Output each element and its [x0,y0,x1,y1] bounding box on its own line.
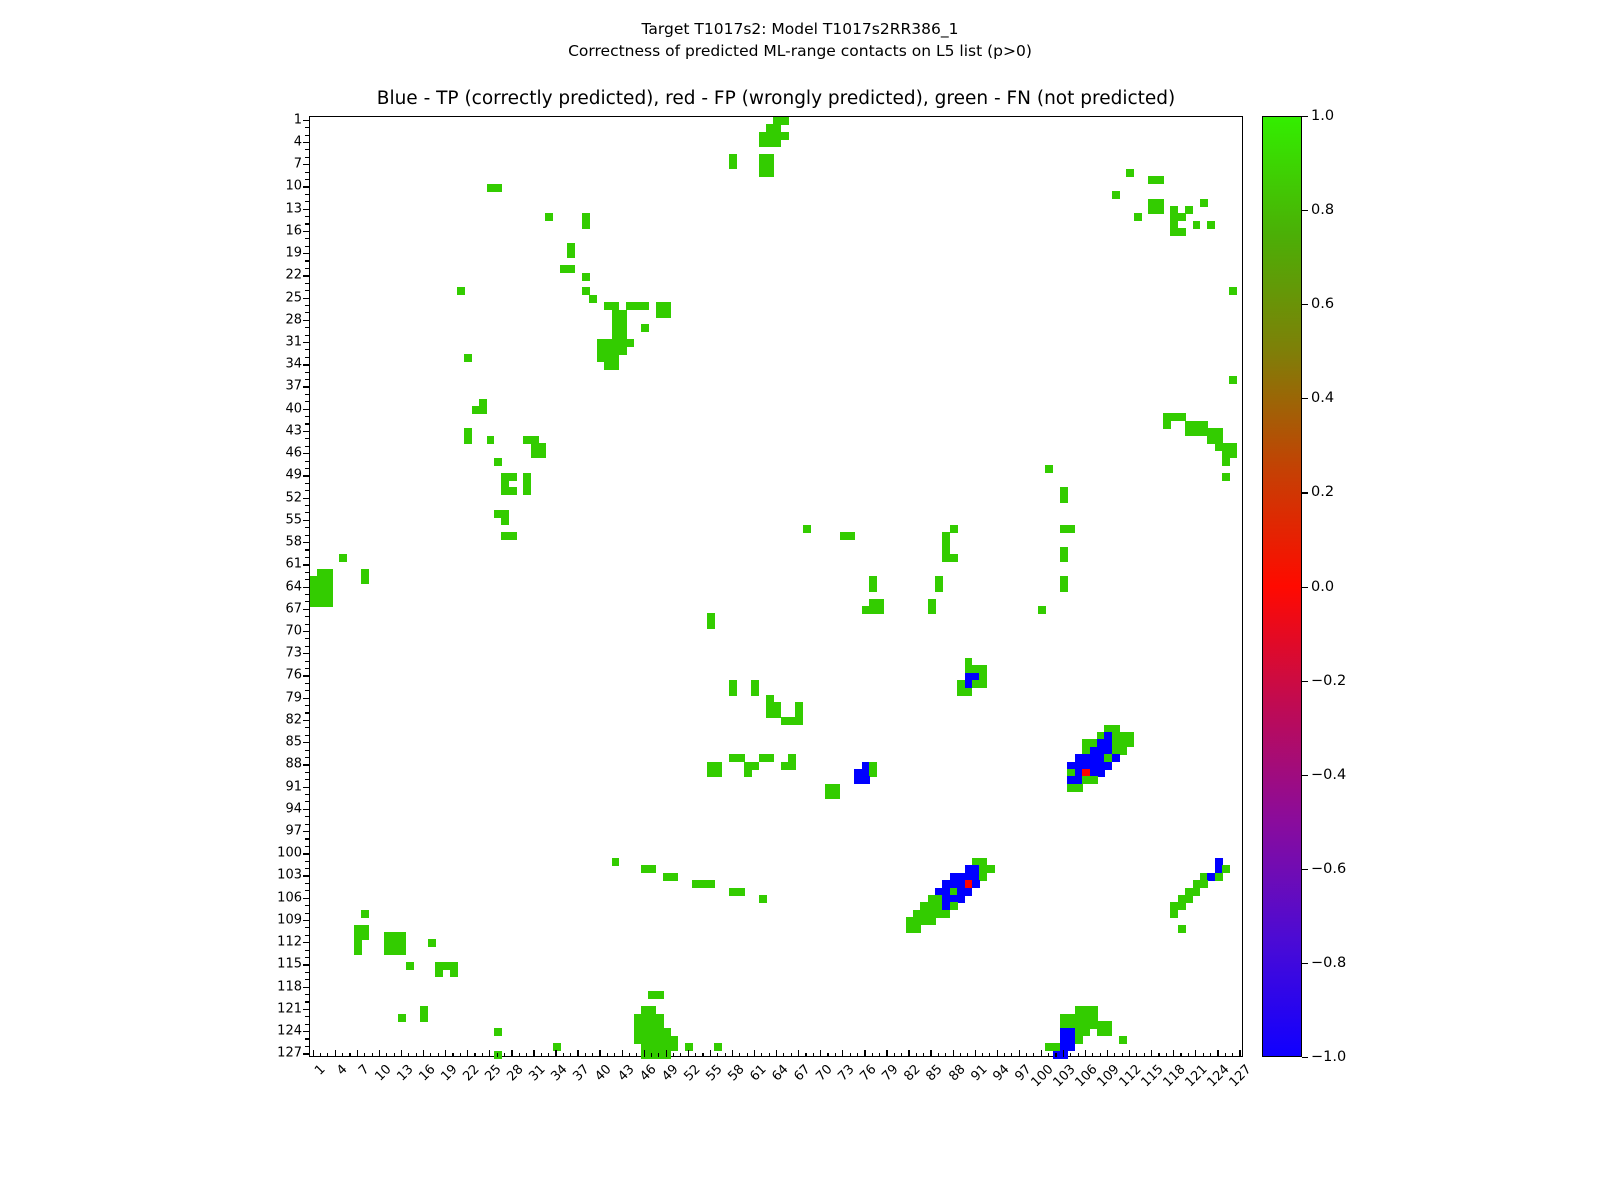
x-tick-label: 34 [549,1062,571,1084]
x-tick-label: 10 [372,1062,394,1084]
x-tick-label: 16 [416,1062,438,1084]
x-tick-minor [901,1053,902,1058]
contact-cell [950,554,958,562]
y-tick-minor [305,579,309,580]
x-tick-minor [725,1053,726,1058]
suptitle-line-2: Correctness of predicted ML-range contac… [568,42,1032,60]
contact-cell [553,1043,561,1051]
colorbar-tick-mark [1302,398,1308,399]
y-tick-minor [305,505,309,506]
contact-cell [339,554,347,562]
x-tick-minor [526,1053,527,1058]
contact-cell [862,776,870,784]
x-tick-minor [1004,1053,1005,1058]
colorbar-tick-label: −1.0 [1302,1049,1346,1065]
contact-cell [876,606,884,614]
contact-cell [1200,199,1208,207]
contact-cell [428,939,436,947]
x-tick-minor [717,1053,718,1058]
contact-cell [670,873,678,881]
x-tick-minor [497,1053,498,1058]
contact-cell [406,962,414,970]
contact-cell [1222,473,1230,481]
contact-cell [795,717,803,725]
x-tick-minor [805,1053,806,1058]
y-tick-minor [305,312,309,313]
y-tick-major [303,698,310,699]
y-tick-minor [305,423,309,424]
x-tick-minor [739,1053,740,1058]
y-tick-minor [305,446,309,447]
y-tick-major [303,431,310,432]
y-tick-minor [305,683,309,684]
x-tick-major [489,1050,490,1057]
x-tick-major [798,1050,799,1057]
colorbar-tick-mark [1302,775,1308,776]
y-tick-major [303,787,310,788]
y-tick-major [303,898,310,899]
contact-cell [325,599,333,607]
x-tick-major [820,1050,821,1057]
contact-cell [641,324,649,332]
x-tick-label: 76 [858,1062,880,1084]
x-tick-label: 70 [813,1062,835,1084]
contact-cell [509,473,517,481]
x-tick-minor [460,1053,461,1058]
y-tick-minor [305,194,309,195]
contact-cell [1163,421,1171,429]
y-tick-major [303,720,310,721]
y-tick-label: 16 [285,223,302,238]
y-tick-label: 97 [285,824,302,839]
contact-cell [435,969,443,977]
contact-cell [928,606,936,614]
y-tick-label: 124 [277,1024,302,1039]
contact-cell [1222,865,1230,873]
y-tick-label: 58 [285,535,302,550]
y-tick-major [303,875,310,876]
x-tick-label: 85 [924,1062,946,1084]
contact-cell [1075,1036,1083,1044]
contact-cell [987,865,995,873]
x-tick-label: 91 [968,1062,990,1084]
contact-cell [1178,902,1186,910]
x-tick-minor [570,1053,571,1058]
x-tick-major [1019,1050,1020,1057]
contact-cell [1156,176,1164,184]
colorbar-tick-mark [1302,1057,1308,1058]
y-tick-major [303,609,310,610]
y-tick-major [303,587,310,588]
y-tick-major [303,209,310,210]
x-tick-minor [1188,1053,1189,1058]
x-tick-minor [541,1053,542,1058]
y-tick-major [303,920,310,921]
x-tick-minor [916,1053,917,1058]
y-tick-label: 70 [285,623,302,638]
y-tick-label: 40 [285,401,302,416]
x-tick-minor [1100,1053,1101,1058]
x-tick-label: 40 [593,1062,615,1084]
y-tick-minor [305,357,309,358]
x-tick-minor [342,1053,343,1058]
contact-cell [494,184,502,192]
x-tick-minor [835,1053,836,1058]
x-tick-major [555,1050,556,1057]
contact-cell [582,273,590,281]
colorbar-tick-mark [1302,681,1308,682]
contact-map-cells [310,117,1242,1056]
x-tick-minor [857,1053,858,1058]
contact-cell [803,525,811,533]
y-tick-major [303,520,310,521]
contact-cell [847,532,855,540]
contact-cell [1126,739,1134,747]
y-tick-label: 121 [277,1001,302,1016]
x-tick-minor [636,1053,637,1058]
x-tick-major [688,1050,689,1057]
y-tick-minor [305,246,309,247]
colorbar-tick-labels: 1.00.80.60.40.20.0−0.2−0.4−0.6−0.8−1.0 [1302,116,1362,1057]
y-tick-minor [305,979,309,980]
contact-cell [737,888,745,896]
y-tick-minor [305,483,309,484]
x-tick-label: 4 [334,1062,350,1078]
y-tick-minor [305,779,309,780]
x-tick-minor [695,1053,696,1058]
x-tick-major [401,1050,402,1057]
y-tick-major [303,742,310,743]
y-tick-major [303,320,310,321]
contact-cell [1038,606,1046,614]
y-axis-tick-labels: 1471013161922252831343740434649525558616… [254,116,302,1057]
y-tick-minor [305,179,309,180]
x-tick-major [511,1050,512,1057]
y-tick-major [303,164,310,165]
contact-cell [1045,465,1053,473]
y-tick-minor [305,801,309,802]
contact-cell [957,895,965,903]
y-tick-minor [305,794,309,795]
contact-cell [509,532,517,540]
x-tick-minor [585,1053,586,1058]
x-tick-minor [386,1053,387,1058]
y-tick-minor [305,172,309,173]
contact-cell [450,969,458,977]
contact-cell [494,458,502,466]
contact-cell [398,1014,406,1022]
contact-cell [1060,495,1068,503]
x-tick-label: 31 [527,1062,549,1084]
y-tick-label: 49 [285,468,302,483]
x-tick-minor [1144,1053,1145,1058]
y-tick-minor [305,705,309,706]
contact-cell [766,169,774,177]
x-tick-label: 22 [460,1062,482,1084]
y-tick-minor [305,624,309,625]
y-tick-minor [305,890,309,891]
y-tick-minor [305,861,309,862]
figure-suptitle: Target T1017s2: Model T1017s2RR386_1Corr… [0,18,1600,63]
y-tick-major [303,498,310,499]
y-tick-minor [305,757,309,758]
contact-cell [420,1014,428,1022]
x-tick-minor [416,1053,417,1058]
x-tick-minor [945,1053,946,1058]
contact-cell [1178,228,1186,236]
y-tick-minor [305,846,309,847]
contact-cell [457,287,465,295]
contact-cell [766,754,774,762]
y-tick-label: 79 [285,690,302,705]
x-tick-label: 25 [482,1062,504,1084]
y-tick-major [303,364,310,365]
y-tick-minor [305,549,309,550]
contact-cell [1170,228,1178,236]
x-tick-label: 19 [438,1062,460,1084]
y-tick-major [303,142,310,143]
x-tick-label: 94 [990,1062,1012,1084]
x-tick-minor [1026,1053,1027,1058]
x-tick-minor [452,1053,453,1058]
colorbar-tick-mark [1302,869,1308,870]
contact-cell [1170,910,1178,918]
y-tick-minor [305,135,309,136]
y-tick-minor [305,1038,309,1039]
y-tick-label: 103 [277,868,302,883]
y-tick-minor [305,913,309,914]
x-tick-minor [349,1053,350,1058]
colorbar-tick-mark [1302,304,1308,305]
x-tick-minor [607,1053,608,1058]
x-axis-tick-marks [309,1057,1243,1058]
x-tick-minor [408,1053,409,1058]
y-tick-label: 61 [285,557,302,572]
y-tick-major [303,186,310,187]
y-tick-minor [305,1016,309,1017]
contact-cell [1119,747,1127,755]
x-tick-minor [327,1053,328,1058]
contact-cell [670,1043,678,1051]
x-tick-minor [1180,1053,1181,1058]
contact-cell [950,525,958,533]
y-tick-major [303,831,310,832]
x-tick-label: 28 [505,1062,527,1084]
contact-cell [479,406,487,414]
y-tick-major [303,942,310,943]
contact-cell [1156,206,1164,214]
x-tick-major [1107,1050,1108,1057]
x-tick-major [1217,1050,1218,1057]
colorbar[interactable] [1262,116,1302,1057]
x-tick-major [1239,1050,1240,1057]
y-tick-major [303,987,310,988]
contact-cell [832,791,840,799]
x-tick-minor [651,1053,652,1058]
contact-cell [545,213,553,221]
x-tick-major [776,1050,777,1057]
contact-cell [729,161,737,169]
colorbar-tick-mark [1302,210,1308,211]
contact-cell [641,302,649,310]
contact-cell [744,769,752,777]
x-tick-minor [394,1053,395,1058]
y-tick-major [303,253,310,254]
contact-cell [1082,1028,1090,1036]
x-tick-minor [673,1053,674,1058]
y-tick-minor [305,290,309,291]
x-tick-minor [474,1053,475,1058]
contact-cell [656,991,664,999]
y-tick-minor [305,461,309,462]
y-tick-label: 76 [285,668,302,683]
y-tick-minor [305,283,309,284]
y-tick-minor [305,127,309,128]
y-tick-minor [305,661,309,662]
y-tick-major [303,386,310,387]
x-tick-minor [430,1053,431,1058]
contact-cell [567,265,575,273]
contact-cell [1215,873,1223,881]
y-tick-major [303,675,310,676]
x-tick-label: 79 [880,1062,902,1084]
y-tick-label: 22 [285,268,302,283]
contact-cell [928,917,936,925]
colorbar-tick-mark [1302,492,1308,493]
x-tick-major [997,1050,998,1057]
y-tick-label: 88 [285,757,302,772]
x-tick-label: 49 [659,1062,681,1084]
contact-cell [1200,880,1208,888]
contact-cell [648,865,656,873]
y-tick-minor [305,223,309,224]
contact-cell [965,888,973,896]
y-tick-minor [305,935,309,936]
contact-cell [361,932,369,940]
contact-cell [1060,584,1068,592]
y-tick-major [303,120,310,121]
x-tick-minor [563,1053,564,1058]
x-tick-major [930,1050,931,1057]
y-tick-minor [305,438,309,439]
contact-cell [1185,206,1193,214]
contact-cell [663,310,671,318]
x-tick-label: 61 [747,1062,769,1084]
y-tick-minor [305,750,309,751]
x-tick-minor [1166,1053,1167,1058]
x-tick-label: 37 [571,1062,593,1084]
contact-map-plot-area[interactable] [309,116,1243,1057]
x-tick-minor [1078,1053,1079,1058]
x-tick-label: 1 [312,1062,328,1078]
y-tick-major [303,409,310,410]
y-tick-minor [305,512,309,513]
contact-cell [1229,287,1237,295]
x-axis-tick-labels: 1471013161922252831343740434649525558616… [309,1062,1243,1132]
contact-cell [869,584,877,592]
y-tick-minor [305,668,309,669]
colorbar-tick-mark [1302,116,1308,117]
y-tick-minor [305,712,309,713]
y-tick-minor [305,201,309,202]
y-axis-tick-marks [309,116,310,1057]
contact-cell [979,680,987,688]
x-tick-minor [791,1053,792,1058]
x-tick-label: 127 [1227,1062,1255,1090]
contact-cell [1229,450,1237,458]
y-tick-minor [305,327,309,328]
contact-cell [464,436,472,444]
y-tick-label: 43 [285,423,302,438]
x-tick-major [423,1050,424,1057]
y-tick-major [303,809,310,810]
y-tick-minor [305,868,309,869]
contact-cell [714,1043,722,1051]
contact-cell [1185,895,1193,903]
x-tick-minor [1122,1053,1123,1058]
contact-cell [589,295,597,303]
x-tick-minor [813,1053,814,1058]
contact-cell [781,117,789,125]
contact-map-figure: Target T1017s2: Model T1017s2RR386_1Corr… [0,0,1600,1200]
x-tick-label: 43 [615,1062,637,1084]
y-tick-minor [305,972,309,973]
contact-cell [1229,376,1237,384]
y-tick-label: 4 [294,134,302,149]
y-tick-minor [305,927,309,928]
y-tick-label: 94 [285,801,302,816]
y-tick-label: 82 [285,712,302,727]
colorbar-tick-label: −0.8 [1302,955,1346,971]
y-tick-minor [305,335,309,336]
y-tick-minor [305,646,309,647]
x-tick-major [599,1050,600,1057]
y-tick-minor [305,616,309,617]
y-tick-label: 106 [277,890,302,905]
x-tick-major [953,1050,954,1057]
x-tick-major [1129,1050,1130,1057]
x-tick-minor [938,1053,939,1058]
contact-cell [582,221,590,229]
y-tick-major [303,764,310,765]
y-tick-label: 31 [285,334,302,349]
x-tick-minor [372,1053,373,1058]
x-tick-minor [1232,1053,1233,1058]
y-tick-label: 127 [277,1046,302,1061]
x-tick-minor [1210,1053,1211,1058]
y-tick-minor [305,1024,309,1025]
y-tick-minor [305,149,309,150]
x-tick-minor [850,1053,851,1058]
colorbar-tick-mark [1302,963,1308,964]
y-tick-minor [305,824,309,825]
x-tick-major [467,1050,468,1057]
y-tick-minor [305,379,309,380]
y-tick-minor [305,535,309,536]
x-tick-minor [1070,1053,1071,1058]
y-tick-label: 91 [285,779,302,794]
x-tick-minor [482,1053,483,1058]
x-tick-minor [519,1053,520,1058]
axes-title-legend: Blue - TP (correctly predicted), red - F… [0,88,1552,109]
y-tick-label: 10 [285,179,302,194]
contact-cell [626,339,634,347]
y-tick-label: 1 [294,112,302,127]
y-tick-minor [305,527,309,528]
y-tick-label: 67 [285,601,302,616]
x-tick-minor [1033,1053,1034,1058]
x-tick-minor [761,1053,762,1058]
